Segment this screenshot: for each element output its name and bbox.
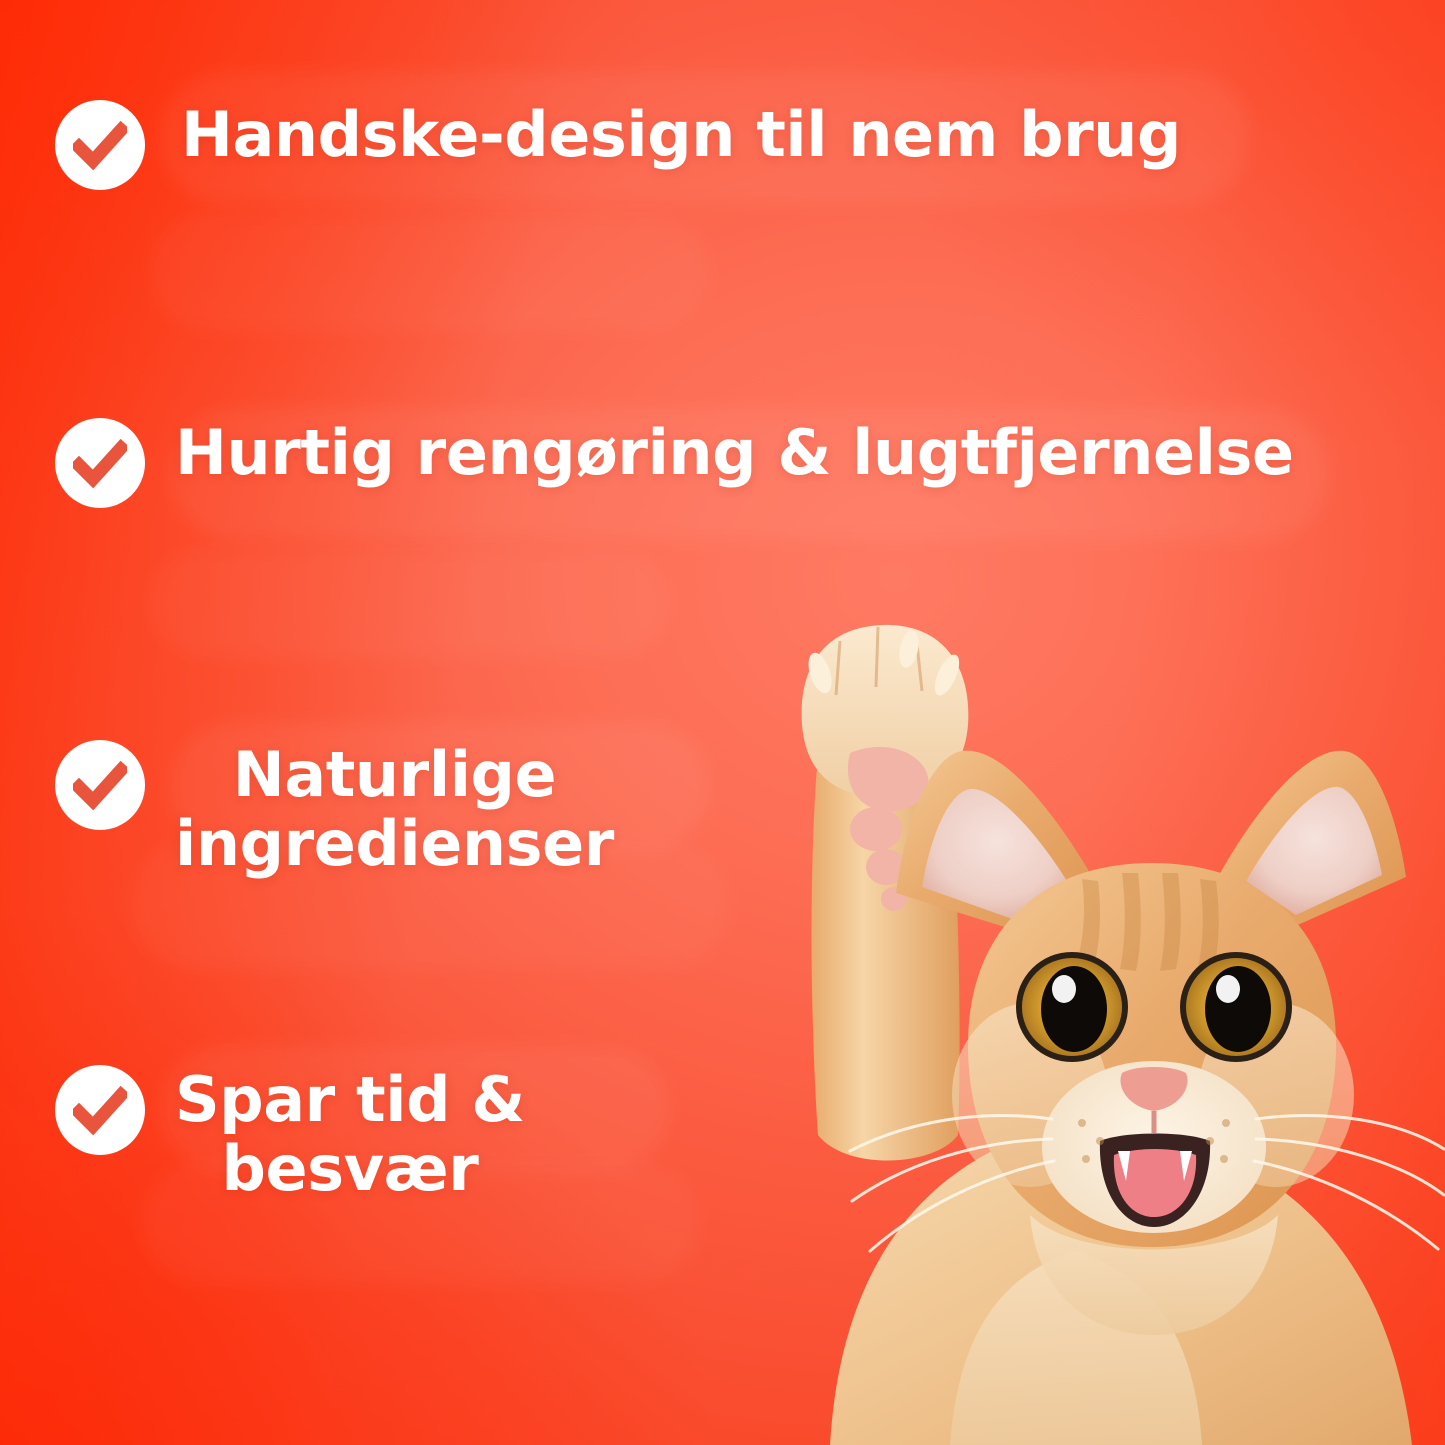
benefit-label-4: Spar tid & besvær [175, 1065, 525, 1204]
benefit-label-3: Naturlige ingredienser [175, 740, 614, 879]
benefit-row-1: Handske-design til nem brug [55, 100, 1345, 190]
check-circle-icon [55, 740, 145, 830]
background-corner-vignette [0, 0, 1445, 1445]
benefit-row-2: Hurtig rengøring & lugtfjernelse [55, 418, 1365, 508]
benefit-row-4: Spar tid & besvær [55, 1065, 655, 1204]
check-circle-icon [55, 100, 145, 190]
benefit-row-3: Naturlige ingredienser [55, 740, 695, 879]
benefit-label-1: Handske-design til nem brug [181, 100, 1181, 169]
benefits-card: Handske-design til nem brug Hurtig rengø… [0, 0, 1445, 1445]
check-circle-icon [55, 1065, 145, 1155]
check-circle-icon [55, 418, 145, 508]
benefit-label-2: Hurtig rengøring & lugtfjernelse [175, 418, 1294, 487]
